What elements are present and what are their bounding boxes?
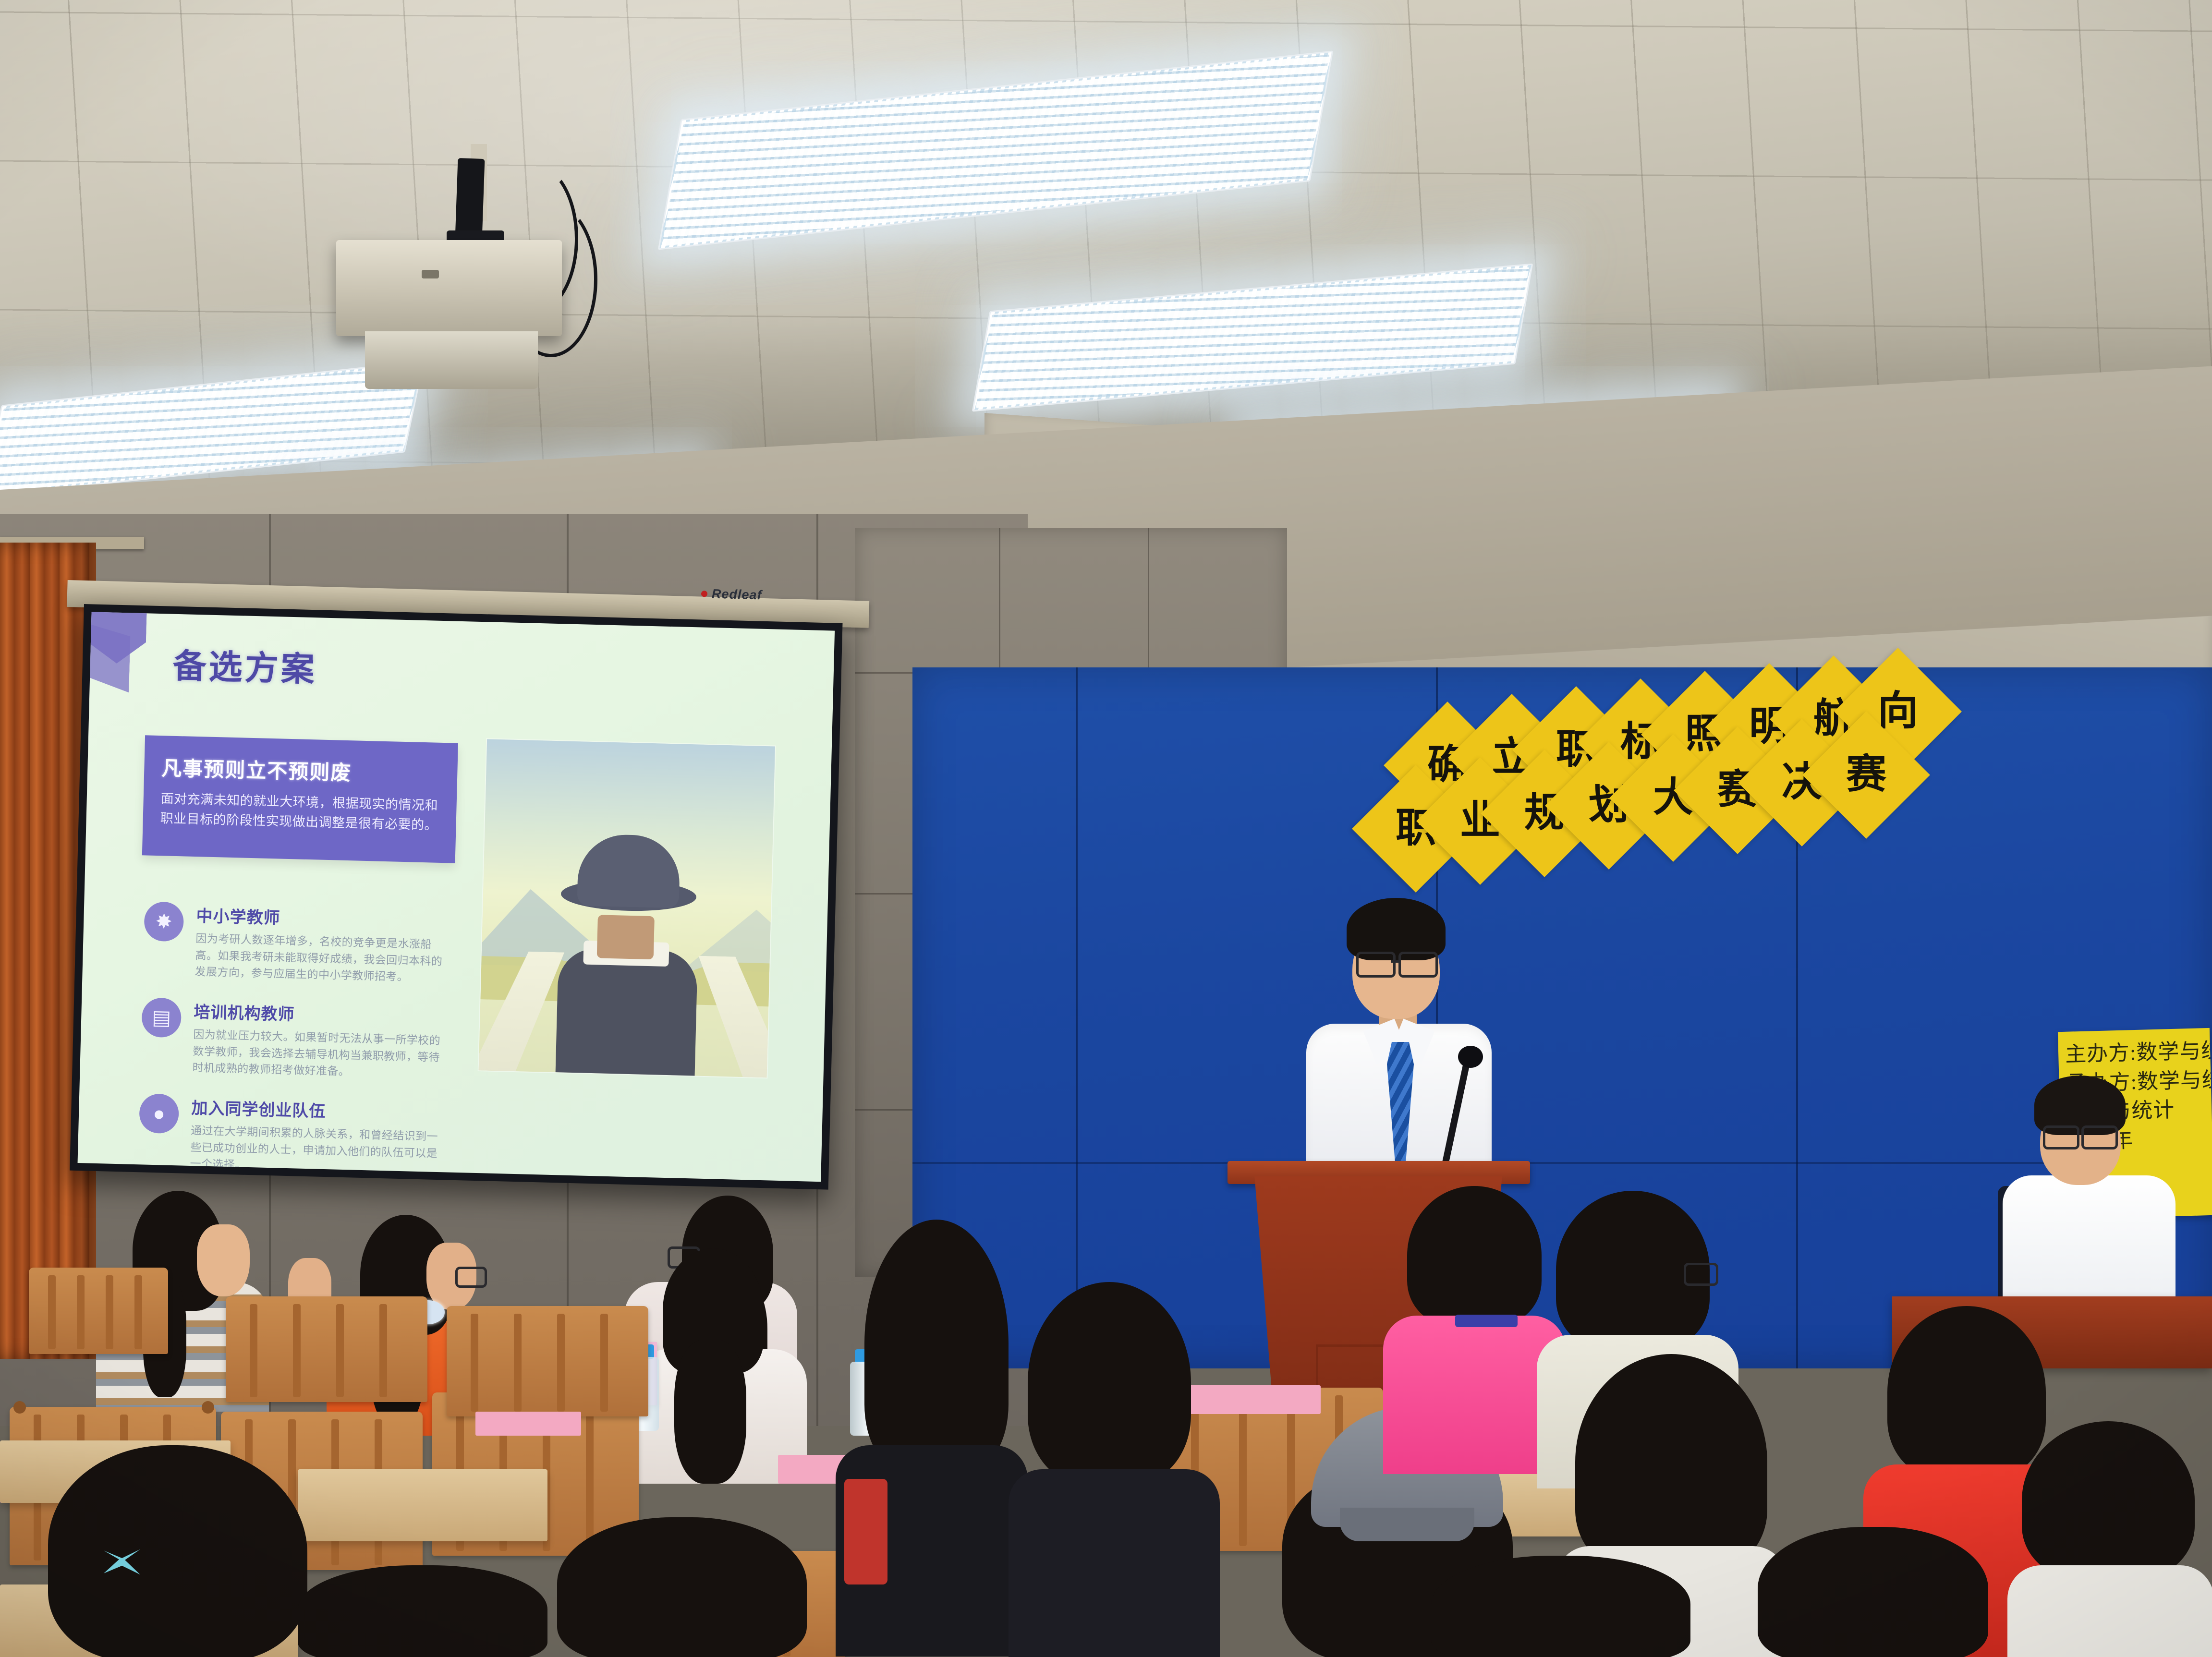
- devices-icon: ▤: [141, 997, 182, 1038]
- presenter-hair: [1347, 898, 1446, 960]
- slide-callout-box: 凡事预则立不预则废 面对充满未知的就业大环境，根据现实的情况和职业目标的阶段性实…: [142, 735, 458, 863]
- brand-dot-icon: [701, 591, 707, 597]
- brand-name: Redleaf: [712, 586, 762, 603]
- presentation-slide: 备选方案 凡事预则立不预则废 面对充满未知的就业大环境，根据现实的情况和职业目标…: [78, 612, 835, 1182]
- glasses-left-lens-icon: [2043, 1125, 2079, 1149]
- audience-member-a12: [48, 1445, 317, 1657]
- lanyard: [1455, 1315, 1518, 1327]
- glasses-bridge-icon: [1391, 960, 1400, 963]
- audience-member-a15: [298, 1565, 547, 1657]
- callout-heading: 凡事预则立不预则废: [161, 752, 440, 788]
- projection-screen: 备选方案 凡事预则立不预则废 面对充满未知的就业大环境，根据现实的情况和职业目标…: [70, 604, 842, 1190]
- bullet-heading: 加入同学创业队伍: [191, 1095, 441, 1125]
- audience-member-a6: [1009, 1282, 1220, 1657]
- glasses-right-lens-icon: [2081, 1125, 2118, 1149]
- bullet-body: 因为就业压力较大。如果暂时无法从事一所学校的数学教师，我会选择去辅导机构当兼职教…: [192, 1026, 443, 1082]
- bullet-body: 通过在大学期间积累的人脉关系，和曾经结识到一些已成功创业的人士，申请加入他们的队…: [190, 1122, 440, 1178]
- glasses-right-lens-icon: [1398, 952, 1438, 978]
- seat-pad-1: [475, 1412, 581, 1436]
- slide-bullet-1: ▤ 培训机构教师 因为就业压力较大。如果暂时无法从事一所学校的数学教师，我会选择…: [140, 997, 444, 1082]
- banner-char: 赛: [1846, 755, 1886, 795]
- slide-title: 备选方案: [172, 639, 317, 691]
- microphone-icon: [1458, 1046, 1483, 1068]
- gear-icon: ✸: [144, 901, 184, 942]
- callout-body: 面对充满未知的就业大环境，根据现实的情况和职业目标的阶段性实现做出调整是很有必要…: [160, 789, 439, 835]
- audience-member-a4: [634, 1248, 807, 1479]
- audience-member-a17: [1758, 1527, 1988, 1657]
- glasses-left-lens-icon: [1356, 952, 1396, 978]
- banner-char: 向: [1878, 691, 1918, 732]
- poster-line-0: 主办方:数学与统: [2065, 1037, 2203, 1069]
- audience-member-a14: [557, 1517, 807, 1657]
- seated-judge-right: [1998, 1076, 2180, 1325]
- audience-member-a16: [1431, 1556, 1690, 1657]
- projector-lens-housing: [365, 331, 538, 389]
- chat-bubble-icon: ●: [139, 1093, 179, 1134]
- presenter: [1297, 898, 1498, 1196]
- ceiling-projector: [336, 240, 562, 336]
- bullet-body: 因为考研人数逐年增多，名校的竞争更是水涨船高。如果我考研未能取得好成绩，我会回归…: [194, 930, 445, 986]
- slide-photo-crossroads: [479, 739, 775, 1077]
- slide-bullet-0: ✸ 中小学教师 因为考研人数逐年增多，名校的竞争更是水涨船高。如果我考研未能取得…: [143, 901, 446, 986]
- audience-member-a13: [2007, 1421, 2212, 1657]
- slide-corner-ribbon-icon: [85, 612, 173, 698]
- slide-bullet-2: ● 加入同学创业队伍 通过在大学期间积累的人脉关系，和曾经结识到一些已成功创业的…: [138, 1093, 441, 1178]
- bullet-heading: 培训机构教师: [194, 999, 444, 1028]
- audience-member-a5: [836, 1220, 1028, 1657]
- bullet-heading: 中小学教师: [196, 903, 446, 932]
- lecture-hall-photo: Redleaf 备选方案 凡事预则立不预则废 面对充满未知的就业大环境，根据现实…: [0, 0, 2212, 1657]
- desk-2: [298, 1469, 547, 1541]
